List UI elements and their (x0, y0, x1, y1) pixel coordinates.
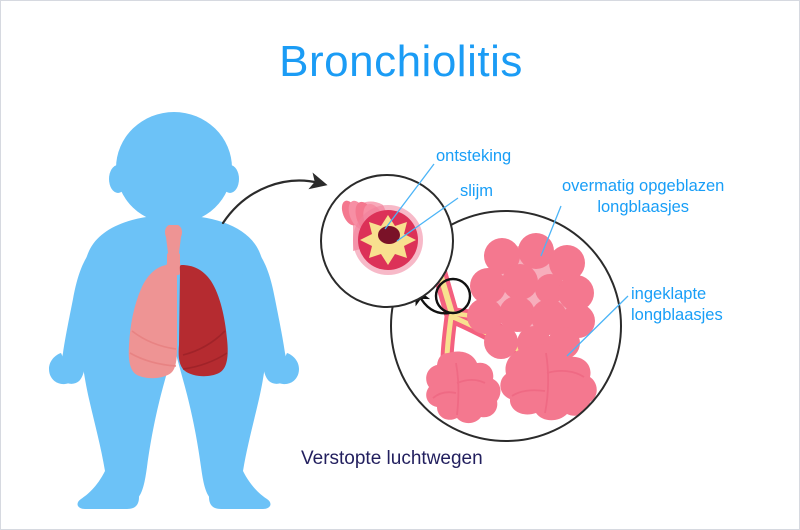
diagram-caption: Verstopte luchtwegen (301, 448, 721, 470)
label-ingeklapte-longblaasjes: ingeklapte longblaasjes (631, 284, 723, 326)
label-slijm: slijm (460, 181, 493, 202)
label-overmatig-opgeblazen-longblaasjes: overmatig opgeblazen longblaasjes (562, 176, 724, 218)
narrowed-lumen (378, 226, 400, 244)
inflated-alveoli-cluster (467, 233, 595, 360)
baby-figure (49, 112, 299, 509)
label-ontsteking: ontsteking (436, 146, 511, 167)
page-title: Bronchiolitis (1, 37, 800, 87)
infographic-canvas: Bronchiolitis ontsteking slijm overmatig… (0, 0, 800, 530)
magnifier-top (321, 175, 453, 307)
baby-head (109, 112, 239, 228)
collapsed-alveoli-right (500, 344, 596, 420)
pointer-arrow-icon (223, 181, 319, 223)
collapsed-alveoli-left (426, 351, 500, 423)
